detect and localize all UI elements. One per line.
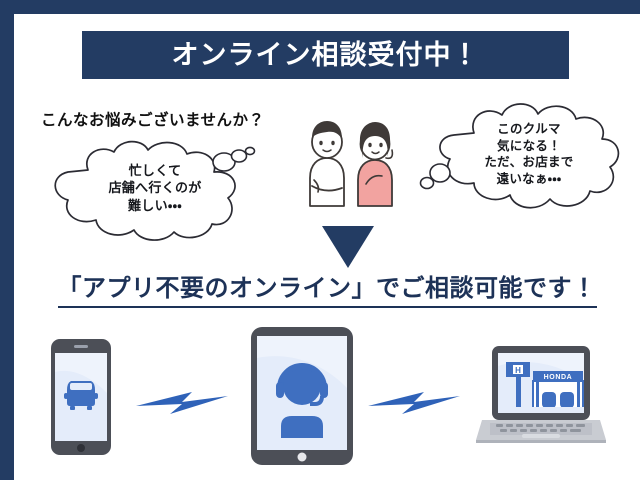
thought-bubble-left: 忙しくて 店舗へ行くのが 難しい・・・ xyxy=(42,140,260,244)
headline-text: 「アプリ不要のオンライン」でご相談可能です！ xyxy=(58,276,597,308)
laptop-icon: H HONDA xyxy=(476,344,606,448)
title-banner: オンライン相談受付中！ xyxy=(82,31,569,79)
tablet-icon xyxy=(250,326,354,466)
poster-frame: オンライン相談受付中！ こんなお悩みございませんか？ 忙しくて 店舗へ行くのが … xyxy=(0,0,640,480)
banner-title: オンライン相談受付中！ xyxy=(172,42,480,69)
man-figure xyxy=(310,121,344,206)
thought-bubble-right: このクルマ 気になる！ ただ、お店まで 遠いなぁ・・・ xyxy=(426,99,626,221)
car-front-icon xyxy=(64,381,98,410)
lightning-bolt-icon-2 xyxy=(366,384,462,420)
down-triangle-icon xyxy=(322,226,374,268)
honda-logo-letter: H xyxy=(515,366,521,375)
lightning-bolt-icon-1 xyxy=(134,384,230,420)
dealership-sign-text: HONDA xyxy=(544,374,573,381)
device-flow: H HONDA xyxy=(14,326,640,474)
woman-figure xyxy=(358,122,392,206)
people-illustration xyxy=(296,114,406,216)
poster-canvas: オンライン相談受付中！ こんなお悩みございませんか？ 忙しくて 店舗へ行くのが … xyxy=(14,14,640,480)
headline-row: 「アプリ不要のオンライン」でご相談可能です！ xyxy=(14,276,640,308)
smartphone-icon xyxy=(50,338,112,456)
lead-question: こんなお悩みございませんか？ xyxy=(41,108,265,130)
